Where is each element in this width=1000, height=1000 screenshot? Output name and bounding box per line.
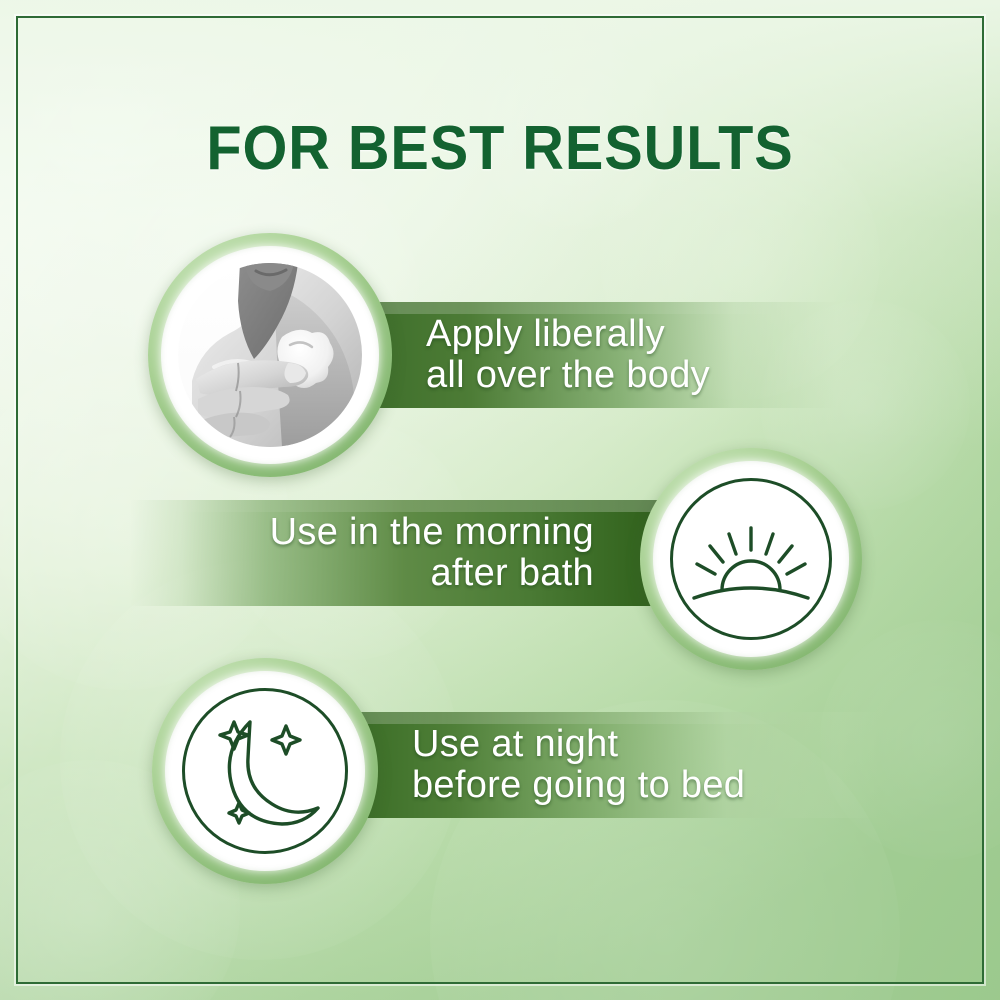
step-2-text: Use in the morning after bath	[270, 512, 594, 594]
step-2-icon-circle	[640, 448, 862, 670]
step-3-text: Use at night before going to bed	[412, 724, 745, 806]
step-1-icon-circle	[148, 233, 392, 477]
for-best-results-infographic: FOR BEST RESULTS Apply liberally all ove…	[0, 0, 1000, 1000]
step-2-banner: Use in the morning after bath	[130, 500, 700, 606]
sunrise-icon	[670, 478, 832, 640]
step-3-icon-circle	[152, 658, 378, 884]
step-1-text: Apply liberally all over the body	[426, 314, 710, 396]
step-3-banner: Use at night before going to bed	[290, 712, 880, 818]
applying-cream-photo-icon	[178, 263, 362, 447]
page-title: FOR BEST RESULTS	[35, 118, 965, 180]
crescent-moon-stars-icon	[182, 688, 348, 854]
